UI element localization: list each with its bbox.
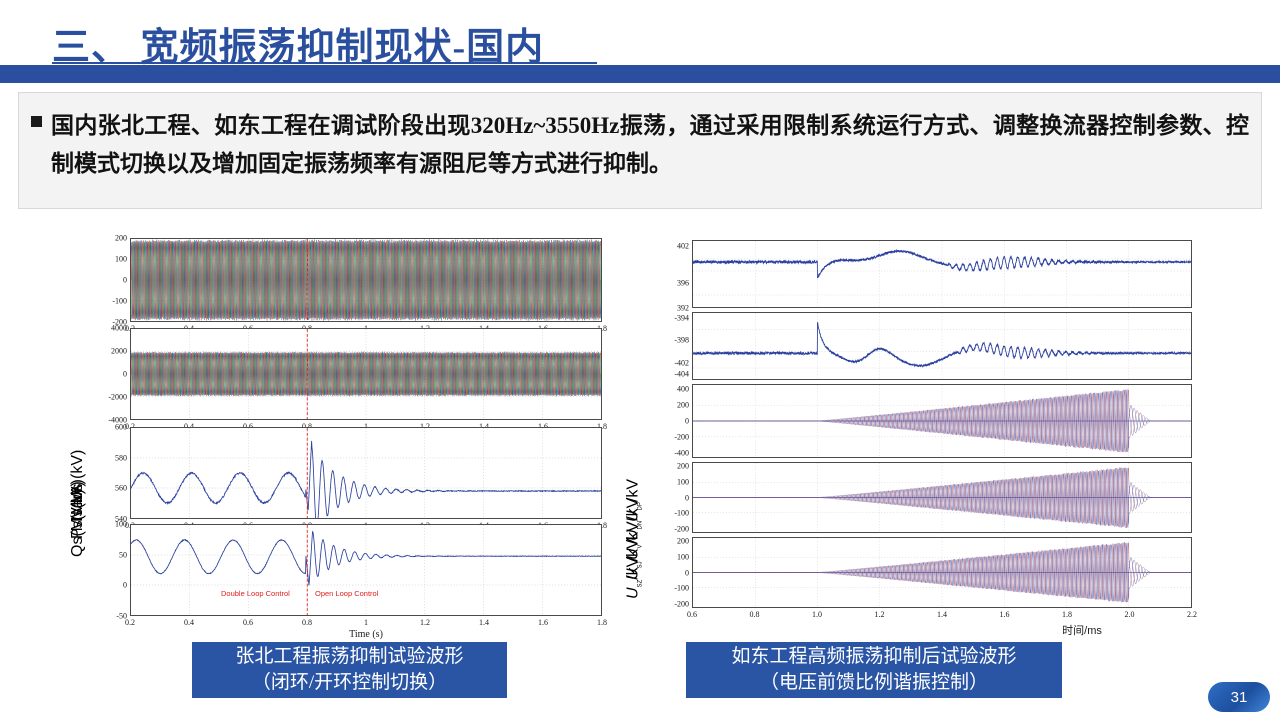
annotation-open-loop-control: Open Loop Control — [315, 589, 378, 598]
y-tick-label: -404 — [655, 370, 689, 379]
x-tick-label: 1.0 — [812, 610, 822, 619]
y-tick-label: -50 — [93, 612, 127, 621]
axes-qs — [130, 524, 602, 616]
axes-uszkv — [692, 537, 1192, 608]
x-tick-label: 1.6 — [538, 618, 548, 627]
y-tick-label: 100 — [93, 520, 127, 529]
x-tick-label: 2.0 — [1125, 610, 1135, 619]
x-tick-label: 2.2 — [1187, 610, 1197, 619]
x-tick-label: 1.2 — [875, 610, 885, 619]
x-tick-label: 0.8 — [750, 610, 760, 619]
y-tick-label: -100 — [93, 297, 127, 306]
y-tick-label: 392 — [655, 304, 689, 313]
page-number-badge: 31 — [1208, 682, 1270, 712]
y-tick-label: -394 — [655, 313, 689, 322]
y-tick-label: 2000 — [93, 347, 127, 356]
y-tick-label: 0 — [655, 417, 689, 426]
y-tick-label: 560 — [93, 484, 127, 493]
x-tick-label: 1.6 — [1000, 610, 1010, 619]
y-tick-label: 400 — [655, 384, 689, 393]
caption-rudong-line2: （电压前馈比例谐振控制） — [760, 670, 988, 696]
axes-ps — [130, 427, 602, 519]
y-tick-label: -100 — [655, 509, 689, 518]
y-tick-label: 0 — [93, 276, 127, 285]
y-tick-label: 0 — [93, 581, 127, 590]
y-axis-label: USZ/kV — [624, 19, 643, 599]
plot-zhangbei: 2001000-100-2000.20.40.60.811.21.41.61.8… — [78, 232, 620, 637]
y-tick-label: 200 — [655, 400, 689, 409]
x-tick-label: 1.8 — [597, 618, 607, 627]
y-tick-label: -398 — [655, 336, 689, 345]
x-tick-label: 0.6 — [687, 610, 697, 619]
axes-udn — [692, 312, 1192, 380]
axes-usjkv — [692, 462, 1192, 533]
y-tick-label: 402 — [655, 242, 689, 251]
y-tick-label: 0 — [655, 568, 689, 577]
x-tick-label: 1 — [364, 618, 368, 627]
annotation-double-loop-control: Double Loop Control — [221, 589, 290, 598]
y-tick-label: 100 — [655, 552, 689, 561]
x-tick-label: 1.4 — [479, 618, 489, 627]
y-axis-label: Qs(MVar) — [69, 15, 87, 557]
y-tick-label: -100 — [655, 584, 689, 593]
caption-zhangbei-line2: （闭环/开环控制切换） — [252, 670, 447, 696]
y-tick-label: 396 — [655, 279, 689, 288]
y-tick-label: -200 — [655, 599, 689, 608]
x-axis-label: Time (s) — [349, 629, 383, 640]
axes-uvkv — [692, 384, 1192, 458]
title-underline — [52, 62, 597, 64]
y-tick-label: 100 — [93, 255, 127, 264]
x-tick-label: 1.2 — [420, 618, 430, 627]
caption-rudong-line1: 如东工程高频振荡抑制后试验波形 — [731, 644, 1016, 670]
y-tick-label: 200 — [93, 234, 127, 243]
y-tick-label: 4000 — [93, 324, 127, 333]
x-axis-label: 时间/ms — [1062, 622, 1102, 638]
y-tick-label: 100 — [655, 477, 689, 486]
x-tick-label: 0.2 — [125, 618, 135, 627]
bullet-square-icon — [31, 116, 42, 127]
bullet-text: 国内张北工程、如东工程在调试阶段出现320Hz~3550Hz振荡，通过采用限制系… — [51, 107, 1249, 183]
x-tick-label: 1.4 — [937, 610, 947, 619]
y-tick-label: 0 — [655, 493, 689, 502]
y-tick-label: 200 — [655, 462, 689, 471]
y-tick-label: -2000 — [93, 393, 127, 402]
x-tick-label: 0.4 — [184, 618, 194, 627]
x-tick-label: 0.6 — [243, 618, 253, 627]
axes-us — [130, 238, 602, 322]
axes-is — [130, 328, 602, 420]
caption-zhangbei: 张北工程振荡抑制试验波形 （闭环/开环控制切换） — [192, 642, 507, 698]
y-tick-label: 50 — [93, 550, 127, 559]
plot-rudong: 402396392UDP/kV-394-398-402-404UDN/kV400… — [634, 232, 1214, 637]
figure-rudong: 402396392UDP/kV-394-398-402-404UDN/kV400… — [634, 232, 1214, 637]
y-tick-label: -200 — [655, 524, 689, 533]
slide-root: 三、 宽频振荡抑制现状-国内 国内张北工程、如东工程在调试阶段出现320Hz~3… — [0, 0, 1280, 720]
y-tick-label: 0 — [93, 370, 127, 379]
y-tick-label: -400 — [655, 449, 689, 458]
caption-zhangbei-line1: 张北工程振荡抑制试验波形 — [235, 644, 463, 670]
y-tick-label: -200 — [655, 433, 689, 442]
y-tick-label: 580 — [93, 453, 127, 462]
x-tick-label: 1.8 — [1062, 610, 1072, 619]
y-tick-label: 200 — [655, 537, 689, 546]
figure-zhangbei: 2001000-100-2000.20.40.60.811.21.41.61.8… — [78, 232, 620, 637]
axes-udp — [692, 240, 1192, 308]
y-tick-label: -402 — [655, 359, 689, 368]
caption-rudong: 如东工程高频振荡抑制后试验波形 （电压前馈比例谐振控制） — [686, 642, 1062, 698]
y-tick-label: 600 — [93, 423, 127, 432]
x-tick-label: 0.8 — [302, 618, 312, 627]
